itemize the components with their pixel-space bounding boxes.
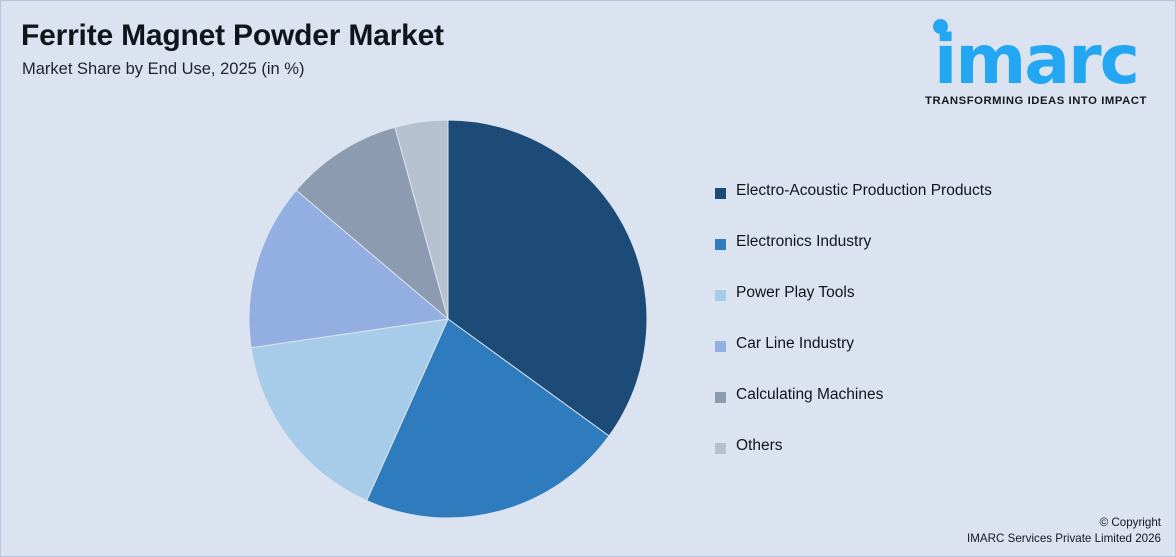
page-subtitle: Market Share by End Use, 2025 (in %) — [22, 60, 304, 79]
logo-tagline: TRANSFORMING IDEAS INTO IMPACT — [911, 95, 1161, 107]
legend-item-label: Power Play Tools — [736, 283, 855, 303]
pie-chart-svg — [248, 119, 648, 519]
logo-wordmark: imarc — [911, 27, 1161, 95]
imarc-logo: imarc TRANSFORMING IDEAS INTO IMPACT — [911, 13, 1161, 105]
legend-item[interactable]: Electronics Industry — [715, 232, 1135, 283]
legend-item[interactable]: Others — [715, 436, 1135, 487]
legend-swatch-icon — [715, 239, 726, 250]
legend-swatch-icon — [715, 188, 726, 199]
legend-swatch-icon — [715, 392, 726, 403]
pie-slice-group — [249, 120, 647, 518]
copyright-line-2: IMARC Services Private Limited 2026 — [967, 531, 1161, 547]
legend-item-label: Car Line Industry — [736, 334, 854, 354]
legend-item[interactable]: Electro-Acoustic Production Products — [715, 181, 1135, 232]
copyright-block: © Copyright IMARC Services Private Limit… — [967, 515, 1161, 547]
legend-item[interactable]: Power Play Tools — [715, 283, 1135, 334]
page-title: Ferrite Magnet Powder Market — [21, 19, 444, 53]
legend-item[interactable]: Calculating Machines — [715, 385, 1135, 436]
copyright-line-1: © Copyright — [967, 515, 1161, 531]
legend-swatch-icon — [715, 290, 726, 301]
pie-chart — [248, 119, 648, 519]
legend-swatch-icon — [715, 341, 726, 352]
legend-item-label: Electro-Acoustic Production Products — [736, 181, 992, 201]
legend-item[interactable]: Car Line Industry — [715, 334, 1135, 385]
chart-legend: Electro-Acoustic Production ProductsElec… — [715, 181, 1135, 487]
legend-item-label: Others — [736, 436, 783, 456]
legend-swatch-icon — [715, 443, 726, 454]
infographic-card: Ferrite Magnet Powder Market Market Shar… — [0, 0, 1176, 557]
legend-item-label: Calculating Machines — [736, 385, 883, 405]
legend-item-label: Electronics Industry — [736, 232, 871, 252]
